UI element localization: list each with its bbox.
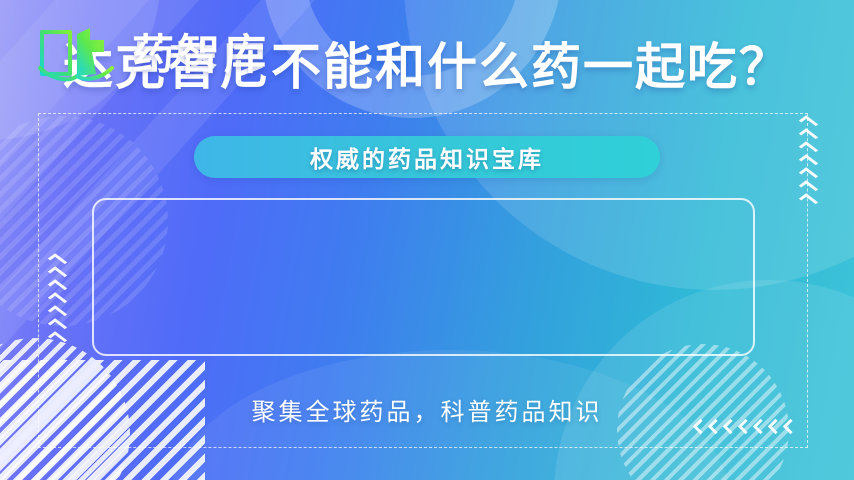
chevron-up-icon <box>48 266 67 281</box>
open-book-medical-cross-icon <box>36 24 118 86</box>
chevron-left-icon <box>783 419 799 435</box>
brand-name: 药智库 <box>132 34 270 76</box>
chevron-up-icon <box>799 141 818 156</box>
chevron-up-icon <box>799 154 818 169</box>
chevron-left-icon <box>708 419 724 435</box>
chevron-group-bottom <box>695 421 796 432</box>
promo-banner: 药智库 权威的药品知识宝库 达克替尼不能和什么药一起吃？ 聚集全球药品，科普药品… <box>0 0 854 480</box>
chevron-up-icon <box>48 292 67 307</box>
chevron-up-icon <box>48 305 67 320</box>
chevron-up-icon <box>48 279 67 294</box>
chevron-up-icon <box>799 180 818 195</box>
chevron-up-icon <box>799 128 818 143</box>
chevron-up-icon <box>48 253 67 268</box>
chevron-left-icon <box>738 419 754 435</box>
chevron-group-left <box>50 256 65 344</box>
chevron-left-icon <box>768 419 784 435</box>
chevron-left-icon <box>693 419 709 435</box>
headline-box <box>92 198 755 356</box>
tagline-badge-text: 权威的药品知识宝库 <box>310 140 544 174</box>
chevron-left-icon <box>753 419 769 435</box>
chevron-group-right <box>801 118 816 206</box>
tagline-badge: 权威的药品知识宝库 <box>194 136 660 178</box>
chevron-up-icon <box>48 331 67 346</box>
chevron-up-icon <box>799 167 818 182</box>
brand-logo[interactable]: 药智库 <box>36 24 270 86</box>
chevron-up-icon <box>799 193 818 208</box>
chevron-up-icon <box>799 115 818 130</box>
chevron-left-icon <box>723 419 739 435</box>
chevron-up-icon <box>48 318 67 333</box>
